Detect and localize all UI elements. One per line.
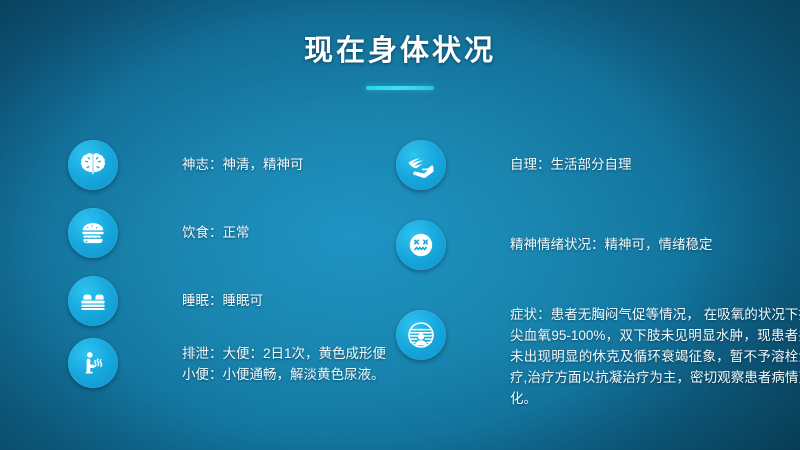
list-item-symptoms[interactable]: 症状：患者无胸闷气促等情况， 在吸氧的状况下指尖血氧95-100%，双下肢未见明… (396, 310, 800, 409)
list-item-self-care[interactable]: 自理：生活部分自理 (396, 140, 632, 190)
patient-icon (396, 310, 446, 360)
list-item-diet[interactable]: 饮食：正常 (68, 208, 250, 258)
brain-icon (68, 140, 118, 190)
list-item-mood[interactable]: 精神情绪状况：精神可，情绪稳定 (396, 220, 713, 270)
list-item-excretion[interactable]: 排泄：大便：2日1次，黄色成形便 小便：小便通畅，解淡黄色尿液。 (68, 338, 386, 388)
list-item-label: 排泄：大便：2日1次，黄色成形便 小便：小便通畅，解淡黄色尿液。 (182, 343, 386, 385)
toilet-icon (68, 338, 118, 388)
burger-icon (68, 208, 118, 258)
list-item-label: 精神情绪状况：精神可，情绪稳定 (510, 234, 713, 255)
list-item-label: 睡眠：睡眠可 (182, 290, 263, 311)
page-title: 现在身体状况 (0, 34, 800, 69)
slide-canvas: 现在身体状况 神志：神清，精神可 (0, 0, 800, 450)
slide-header: 现在身体状况 (0, 34, 800, 90)
caring-hand-icon (396, 140, 446, 190)
bed-icon (68, 276, 118, 326)
list-item-consciousness[interactable]: 神志：神清，精神可 (68, 140, 304, 190)
list-item-label: 神志：神清，精神可 (182, 154, 304, 175)
list-item-label: 症状：患者无胸闷气促等情况， 在吸氧的状况下指尖血氧95-100%，双下肢未见明… (510, 304, 800, 409)
emotion-face-icon (396, 220, 446, 270)
list-item-label: 自理：生活部分自理 (510, 154, 632, 175)
title-underline (366, 86, 434, 90)
list-item-label: 饮食：正常 (182, 222, 250, 243)
list-item-sleep[interactable]: 睡眠：睡眠可 (68, 276, 263, 326)
